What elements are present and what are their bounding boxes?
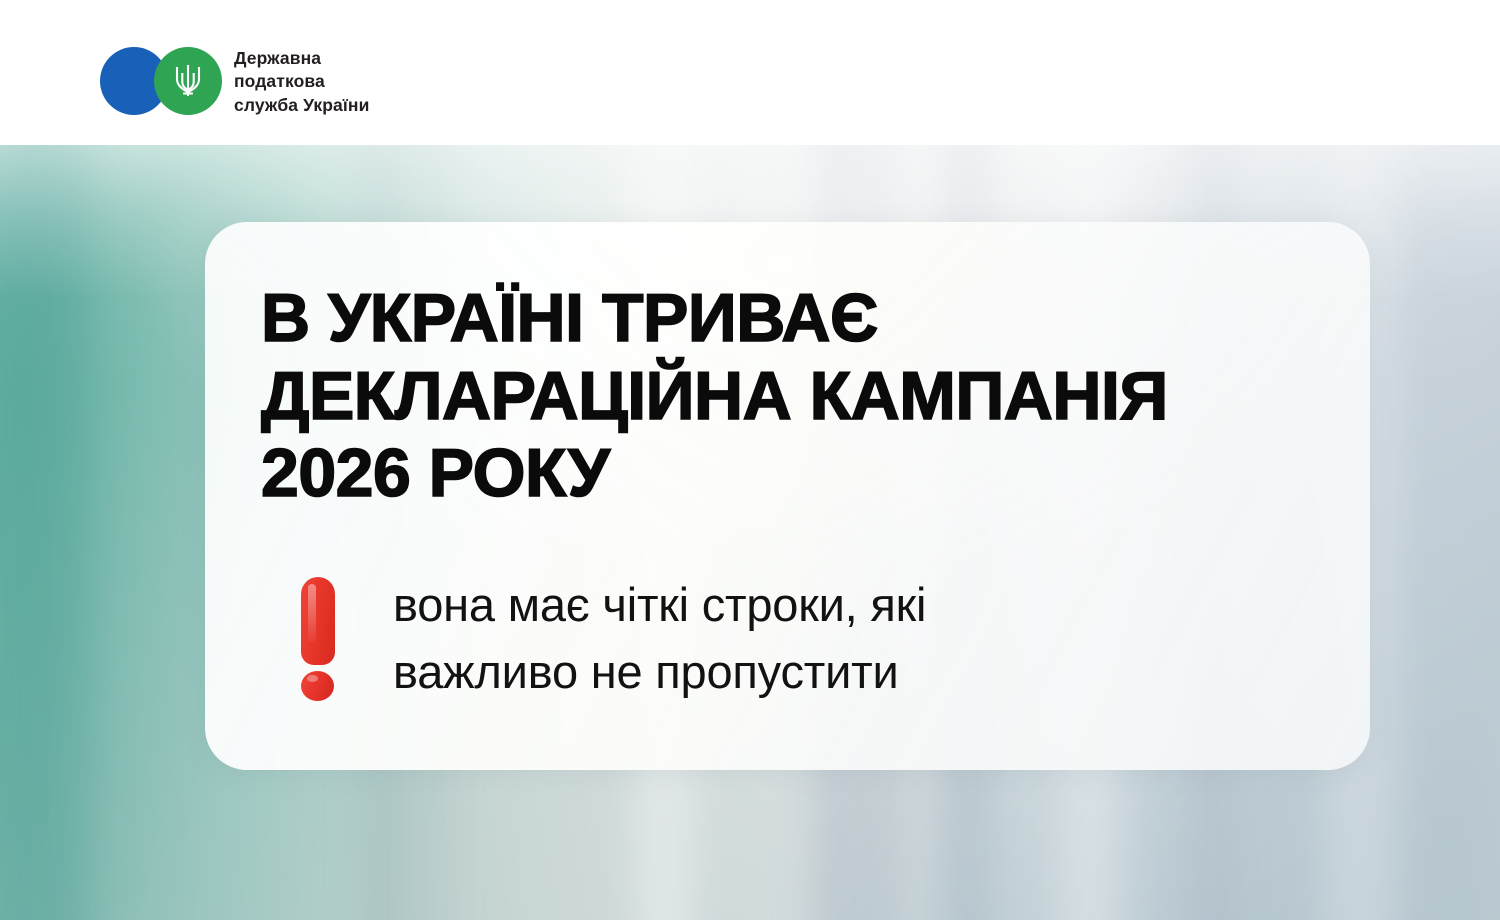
headline-line-2: ДЕКЛАРАЦІЙНА КАМПАНІЯ <box>261 358 1306 436</box>
organization-name-line-2: податкова <box>234 70 369 93</box>
logo-marks <box>100 47 220 117</box>
red-exclamation-mark-icon <box>293 577 345 699</box>
organization-name: Державна податкова служба України <box>234 47 369 117</box>
subtitle: вона має чіткі строки, які важливо не пр… <box>393 571 926 705</box>
page-title: В УКРАЇНІ ТРИВАЄ ДЕКЛАРАЦІЙНА КАМПАНІЯ 2… <box>261 280 1306 513</box>
organization-logo[interactable]: Державна податкова служба України <box>100 47 369 117</box>
ukraine-trident-icon <box>154 47 222 115</box>
organization-name-line-3: служба України <box>234 94 369 117</box>
exclamation-dot <box>301 671 334 701</box>
subtitle-line-1: вона має чіткі строки, які <box>393 571 926 638</box>
header-bar: Державна податкова служба України <box>0 0 1500 145</box>
content-card: В УКРАЇНІ ТРИВАЄ ДЕКЛАРАЦІЙНА КАМПАНІЯ 2… <box>205 222 1370 770</box>
poster-screen: В УКРАЇНІ ТРИВАЄ ДЕКЛАРАЦІЙНА КАМПАНІЯ 2… <box>0 0 1500 920</box>
subtitle-line-2: важливо не пропустити <box>393 638 926 705</box>
organization-name-line-1: Державна <box>234 47 369 70</box>
headline-line-1: В УКРАЇНІ ТРИВАЄ <box>261 280 1306 358</box>
subtitle-block: вона має чіткі строки, які важливо не пр… <box>261 571 1306 705</box>
exclamation-bar <box>301 577 335 665</box>
headline-line-3: 2026 РОКУ <box>261 435 1306 513</box>
